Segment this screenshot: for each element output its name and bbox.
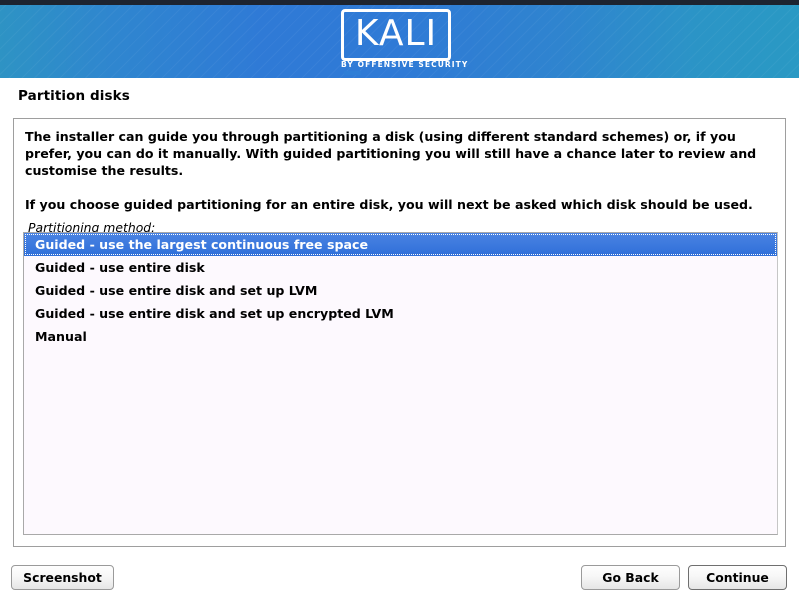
continue-button[interactable]: Continue: [688, 565, 787, 590]
list-item[interactable]: Manual: [24, 325, 777, 348]
description-paragraph-2: If you choose guided partitioning for an…: [23, 196, 776, 213]
kali-logo-tagline: BY OFFENSIVE SECURITY: [341, 60, 459, 69]
kali-logo-wordmark: KALI: [341, 9, 451, 61]
go-back-button[interactable]: Go Back: [581, 565, 680, 590]
screenshot-button[interactable]: Screenshot: [11, 565, 114, 590]
installer-banner: KALI BY OFFENSIVE SECURITY: [0, 0, 799, 78]
partitioning-method-listbox[interactable]: Guided - use the largest continuous free…: [23, 232, 778, 535]
list-item[interactable]: Guided - use entire disk and set up LVM: [24, 279, 777, 302]
kali-logo: KALI BY OFFENSIVE SECURITY: [341, 9, 459, 75]
list-item[interactable]: Guided - use entire disk and set up encr…: [24, 302, 777, 325]
description-paragraph-1: The installer can guide you through part…: [23, 128, 776, 179]
kali-logo-frame-notch: [344, 71, 361, 76]
banner-top-strip: [0, 0, 799, 5]
content-panel: The installer can guide you through part…: [13, 118, 786, 547]
list-item[interactable]: Guided - use the largest continuous free…: [24, 233, 777, 256]
list-item[interactable]: Guided - use entire disk: [24, 256, 777, 279]
page-title: Partition disks: [18, 88, 130, 104]
